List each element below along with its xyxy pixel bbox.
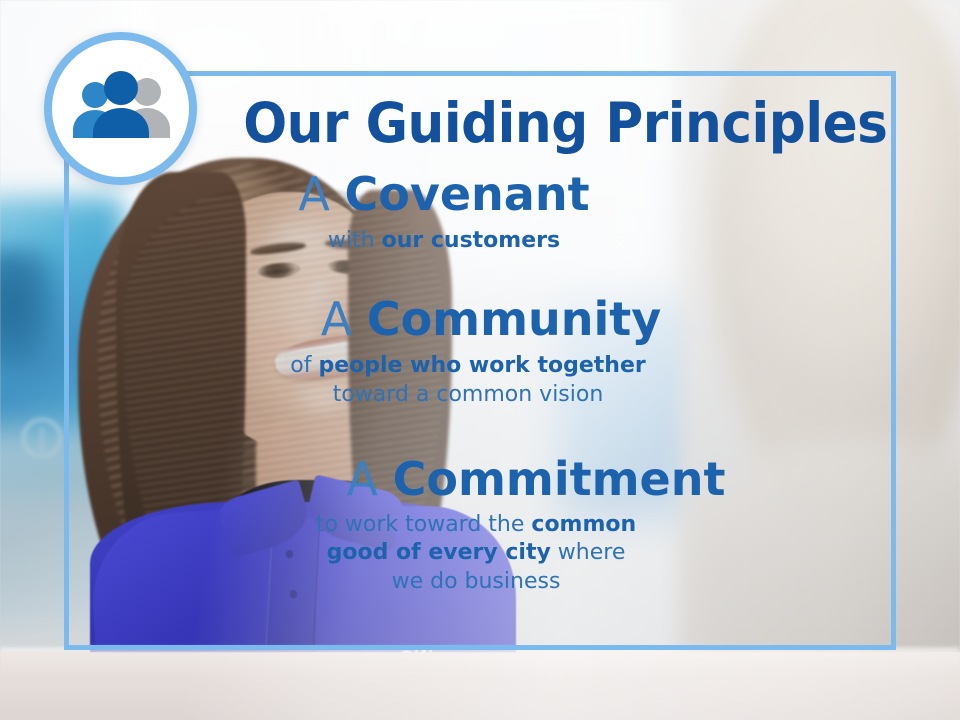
principle-community-subtitle: of people who work together toward a com… [64,351,872,409]
principle-commitment-word: Commitment [393,452,726,506]
principle-covenant-subtitle: with our customers [64,226,824,255]
sub-text: with [328,228,382,253]
people-group-icon [69,70,173,148]
page-title: Our Guiding Principles [243,96,845,151]
principle-community: A Community of people who work together … [64,296,896,409]
principle-commitment-subtitle-line-3: we do business [64,568,888,597]
principle-covenant-article: A [298,167,329,221]
sub-text: where [551,540,626,565]
principle-covenant: A Covenant with our customers [64,171,896,255]
guiding-principles-graphic: FLOW AUTOMOTIVE FLOW Our Guiding Princip… [0,0,960,720]
principle-commitment: A Commitment to work toward the common g… [64,456,896,597]
principle-covenant-word: Covenant [345,167,590,221]
sub-text-bold: our customers [382,228,561,253]
people-badge [44,32,197,185]
sub-text: we do business [392,569,561,594]
sub-text: to work toward the [316,512,532,537]
principle-community-subtitle-line-2: toward a common vision [64,380,872,409]
sub-text-bold: common [531,512,636,537]
principle-commitment-heading: A Commitment [64,456,888,504]
principle-community-article: A [321,292,352,346]
principle-community-heading: A Community [64,296,872,344]
principle-community-word: Community [367,292,661,346]
principle-covenant-subtitle-line-1: with our customers [64,226,824,255]
sub-text: of [290,353,318,378]
table-surface [0,652,960,720]
sub-text-bold: good of every city [327,540,551,565]
principle-community-subtitle-line-1: of people who work together [64,351,872,380]
principle-commitment-article: A [347,452,378,506]
sub-text-bold: people who work together [318,353,645,378]
blurred-vehicle-left [0,250,62,370]
principle-commitment-subtitle-line-1: to work toward the common [64,511,888,540]
content-area: Our Guiding Principles A Covenant with o… [64,71,896,650]
principle-covenant-heading: A Covenant [64,171,824,219]
principle-commitment-subtitle-line-2: good of every city where [64,539,888,568]
sub-text: toward a common vision [333,382,604,407]
principle-commitment-subtitle: to work toward the common good of every … [64,511,888,597]
